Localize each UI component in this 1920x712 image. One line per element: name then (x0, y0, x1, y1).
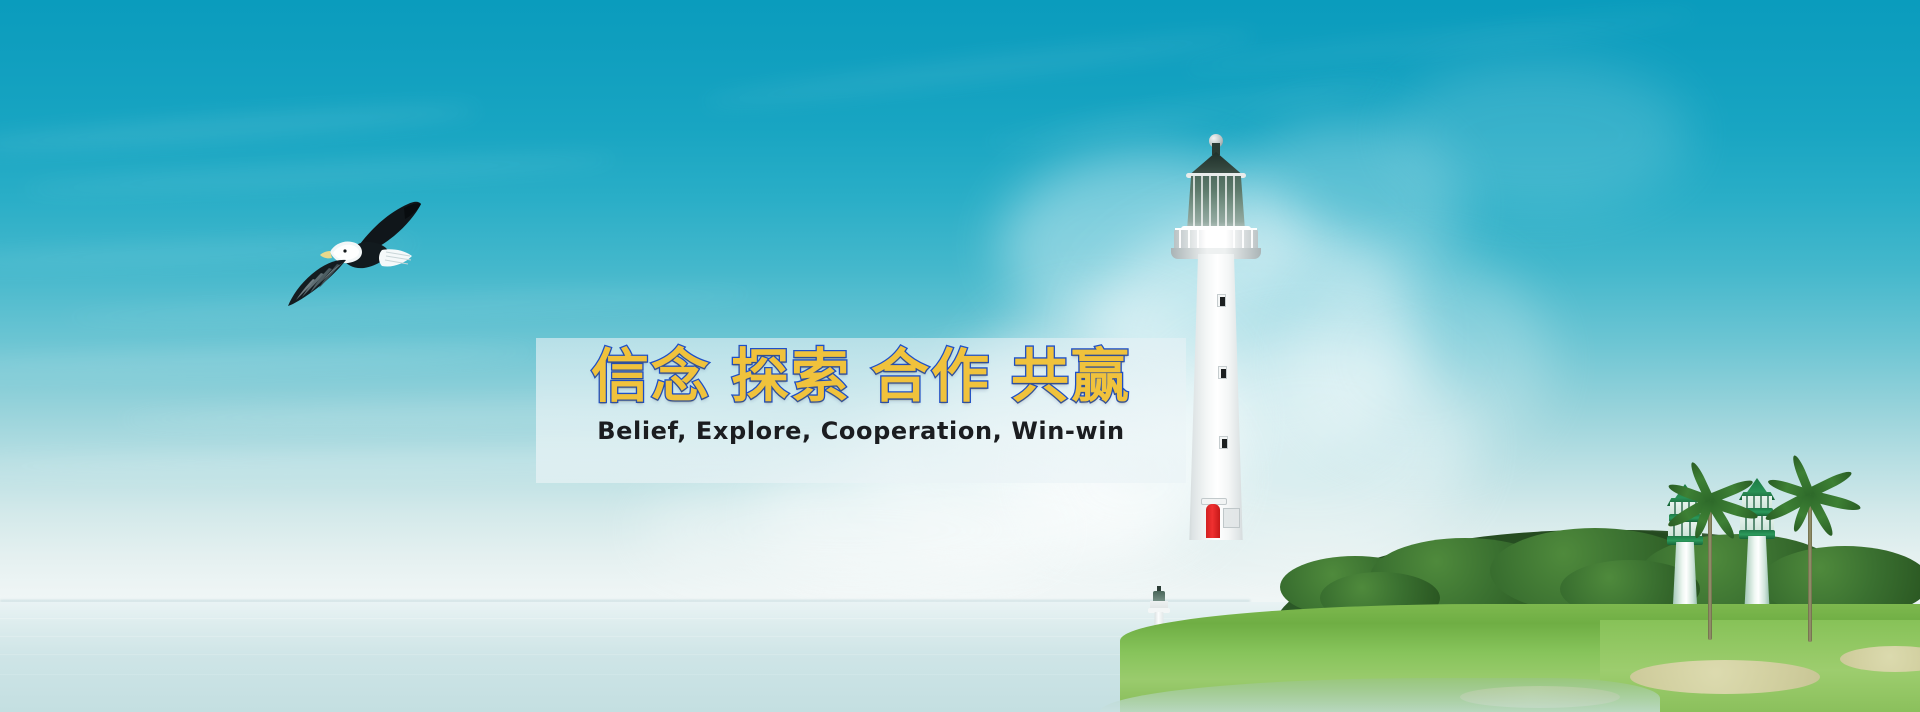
lighthouse-door (1206, 504, 1220, 538)
sand-bunker (1630, 660, 1820, 694)
lighthouse-plaque (1223, 508, 1240, 528)
lighthouse-window (1218, 366, 1227, 379)
eagle-icon (286, 196, 422, 312)
lighthouse-railing (1175, 228, 1257, 250)
slogan-word-1: 信念 (591, 344, 711, 409)
slogan-english: Belief, Explore, Cooperation, Win-win (597, 417, 1125, 445)
palm-tree-right (1766, 466, 1856, 642)
cumulus-cloud (640, 470, 1060, 590)
slogan-word-2: 探索 (731, 344, 851, 409)
cumulus-cloud (1290, 250, 1550, 470)
hero-banner: 信念探索合作共赢 Belief, Explore, Cooperation, W… (0, 0, 1920, 712)
slogan-word-4: 共赢 (1011, 344, 1131, 409)
lighthouse-window (1219, 436, 1228, 449)
slogan-panel: 信念探索合作共赢 Belief, Explore, Cooperation, W… (536, 338, 1186, 483)
palm-tree-left (1668, 470, 1758, 640)
slogan-word-3: 合作 (871, 344, 991, 409)
slogan-chinese: 信念探索合作共赢 (591, 344, 1131, 409)
lighthouse-window (1217, 294, 1226, 307)
cumulus-cloud (1390, 60, 1690, 210)
lighthouse-lantern-glass (1187, 176, 1245, 230)
